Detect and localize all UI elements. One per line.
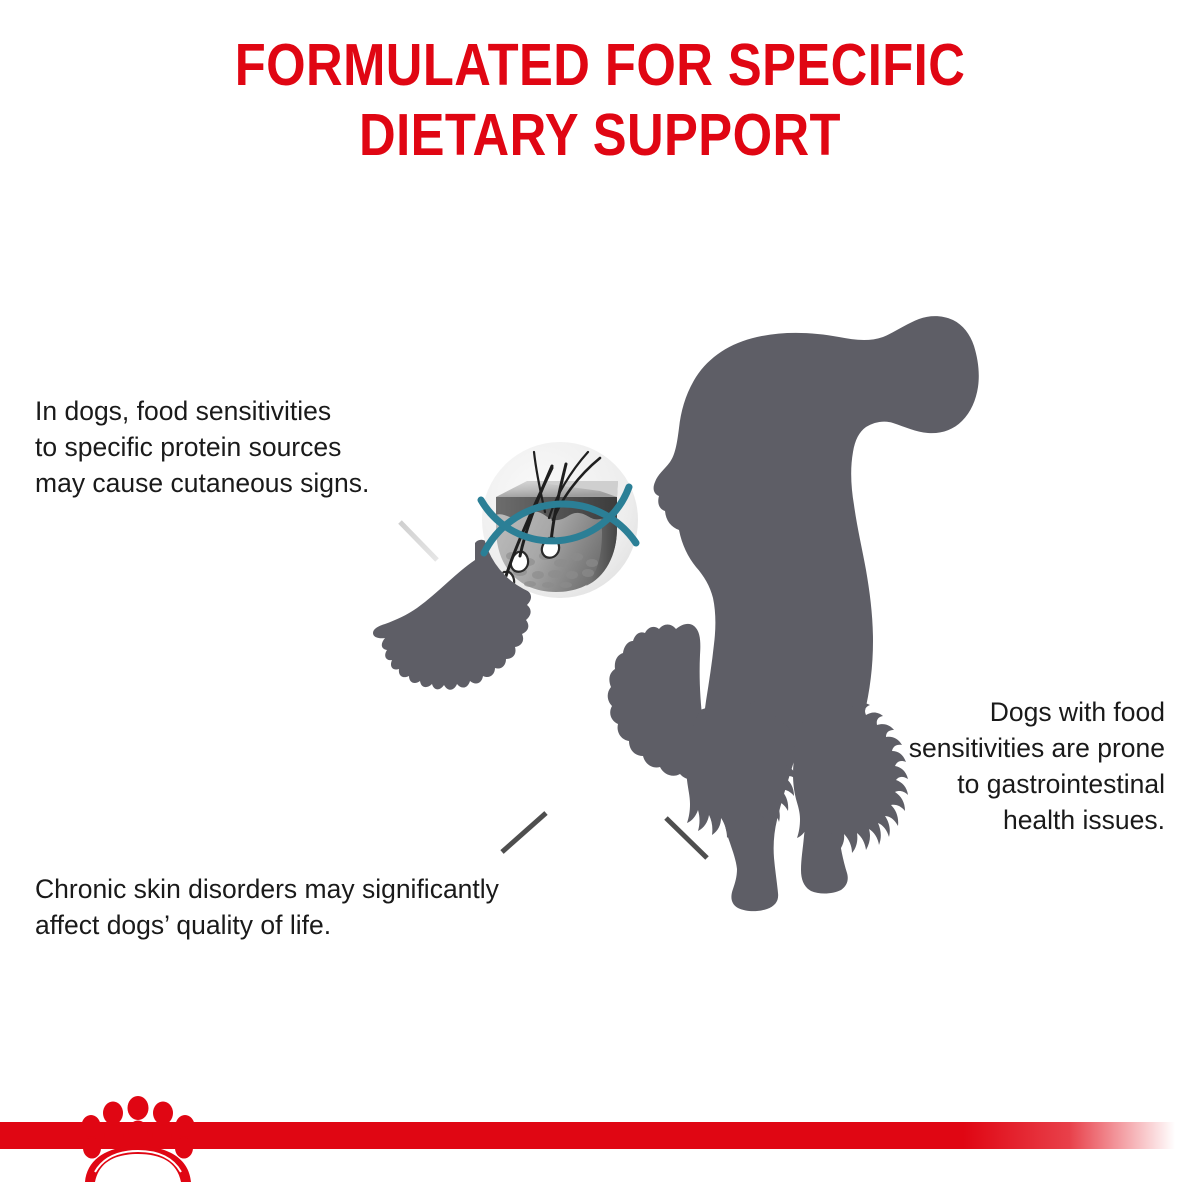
poster-canvas: FORMULATED FOR SPECIFIC DIETARY SUPPORT — [0, 0, 1200, 1200]
callout-quality-of-life: Chronic skin disorders may significantly… — [35, 871, 675, 943]
royal-canin-crown-logo — [73, 1096, 203, 1184]
callout-gastrointestinal: Dogs with food sensitivities are prone t… — [765, 694, 1165, 838]
connector-skin-diagonal — [400, 522, 437, 560]
connector-quality-diagonal — [502, 813, 546, 852]
skin-icon-badge — [481, 442, 638, 598]
crown-icon — [73, 1096, 203, 1184]
callout-skin-sensitivity: In dogs, food sensitivities to specific … — [35, 393, 455, 501]
